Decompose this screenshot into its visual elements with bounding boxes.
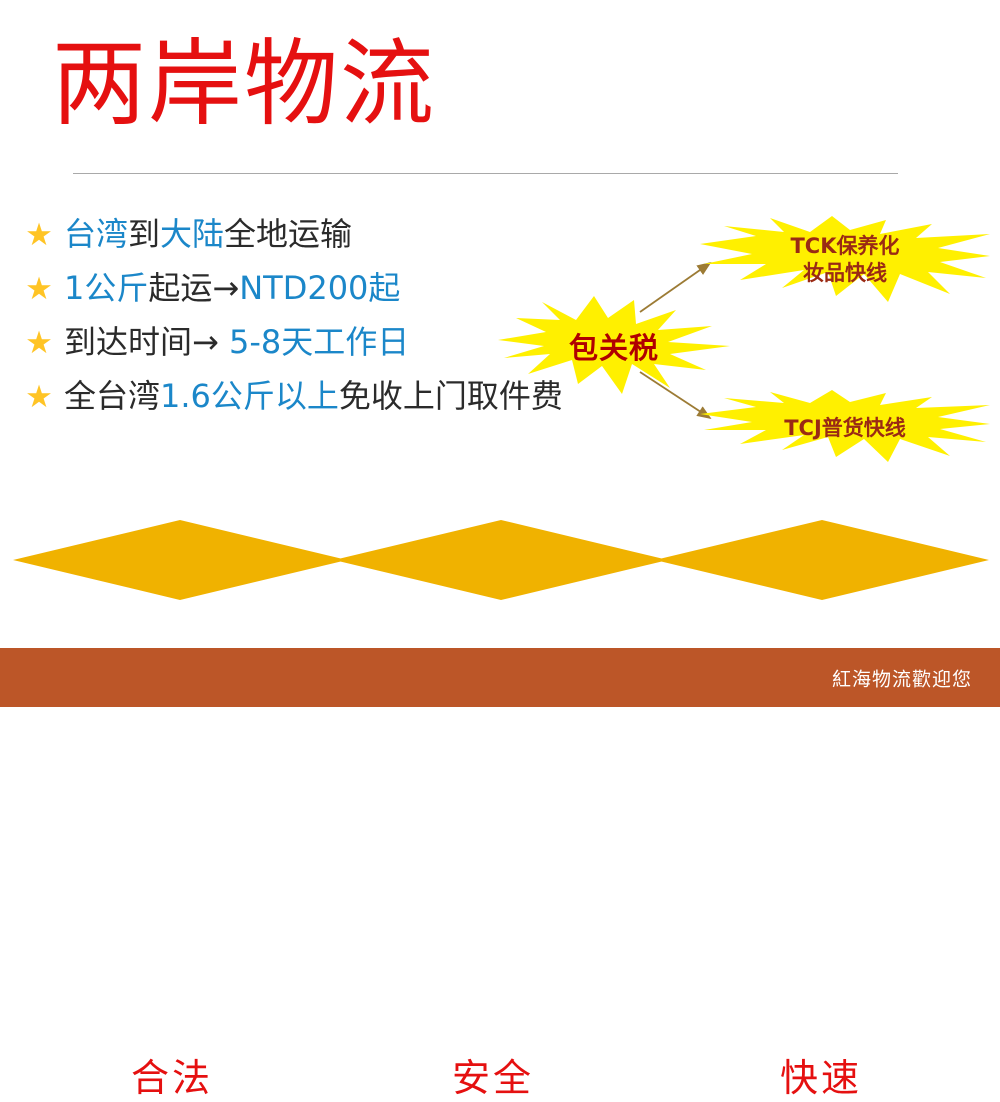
footer-text: 紅海物流歡迎您 (832, 664, 972, 691)
diamond-shape-3 (655, 520, 989, 600)
bullet-1-seg-4: 全地运输 (224, 215, 352, 253)
burst-tck-cosmetics-line: TCK保养化 妆品快线 (700, 216, 990, 304)
diamond-label-safe: 安全 (452, 1047, 534, 1102)
diamond-label-legal: 合法 (131, 1047, 213, 1102)
list-item-text: 台湾到大陆全地运输 (64, 212, 352, 256)
burst-shape (498, 296, 730, 394)
bullet-3-seg-1: 到达时间→ (64, 323, 229, 361)
title-divider (73, 173, 898, 174)
burst-shape (700, 216, 990, 302)
burst-shape (700, 390, 990, 462)
list-item-text: 到达时间→ 5-8天工作日 (64, 320, 409, 364)
bullet-2-seg-2: 起运→ (148, 269, 239, 307)
bullet-4-seg-2: 1.6公斤以上 (160, 377, 339, 415)
bullet-2-seg-1: 1公斤 (64, 269, 148, 307)
star-icon: ★ (22, 382, 56, 416)
page-title: 两岸物流 (52, 38, 436, 132)
bullet-1-seg-3: 大陆 (160, 215, 224, 253)
bullet-4-seg-1: 全台湾 (64, 377, 160, 415)
bullet-3-seg-2: 5-8天工作日 (229, 323, 409, 361)
bullet-1-seg-1: 台湾 (64, 215, 128, 253)
value-diamond-band: 合法 安全 快速 (0, 507, 1000, 617)
footer-bar: 紅海物流歡迎您 (0, 648, 1000, 707)
star-icon: ★ (22, 328, 56, 362)
list-item: ★ 台湾到大陆全地运输 (22, 212, 602, 258)
burst-tcj-general-cargo-line: TCJ普货快线 (700, 390, 990, 464)
list-item-text: 1公斤起运→NTD200起 (64, 266, 400, 310)
burst-bao-guan-shui: 包关税 (498, 296, 730, 396)
bullet-2-seg-3: NTD200起 (239, 269, 400, 307)
diamond-shape-2 (334, 520, 668, 600)
bullet-1-seg-2: 到 (128, 215, 160, 253)
diamond-label-fast: 快速 (780, 1047, 862, 1102)
diamond-shape-1 (13, 520, 347, 600)
star-icon: ★ (22, 220, 56, 254)
star-icon: ★ (22, 274, 56, 308)
list-item-text: 全台湾1.6公斤以上免收上门取件费 (64, 374, 563, 418)
